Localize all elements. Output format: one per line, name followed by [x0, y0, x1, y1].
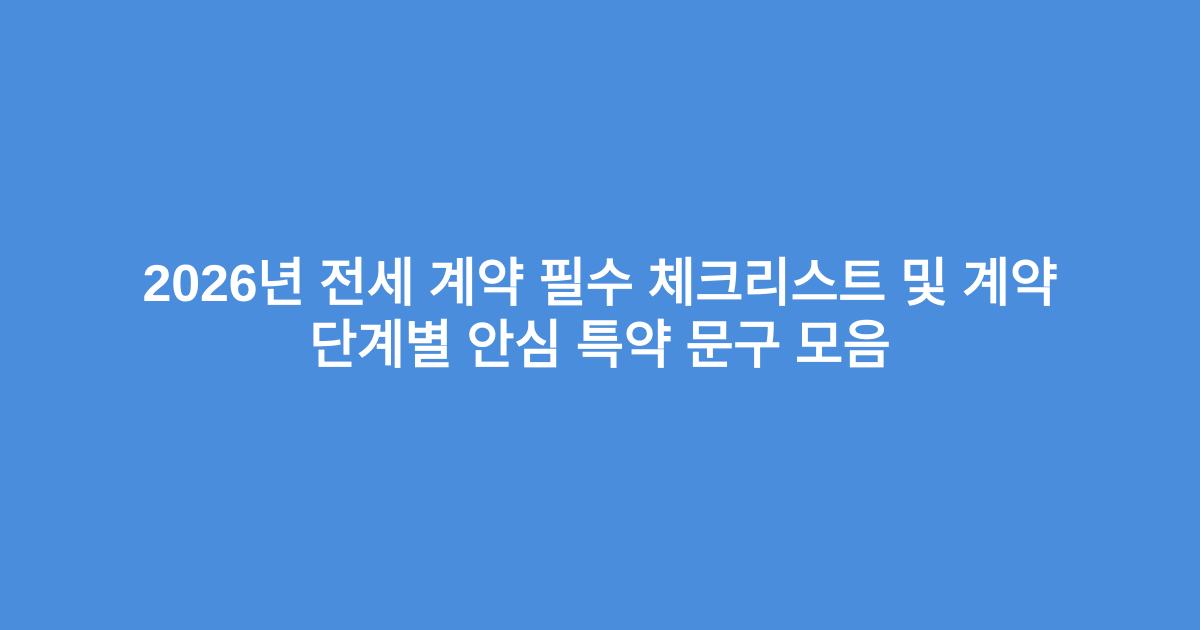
share-card-canvas: 2026년 전세 계약 필수 체크리스트 및 계약 단계별 안심 특약 문구 모… — [0, 0, 1200, 630]
title-block: 2026년 전세 계약 필수 체크리스트 및 계약 단계별 안심 특약 문구 모… — [60, 253, 1140, 378]
page-title: 2026년 전세 계약 필수 체크리스트 및 계약 단계별 안심 특약 문구 모… — [120, 253, 1080, 378]
